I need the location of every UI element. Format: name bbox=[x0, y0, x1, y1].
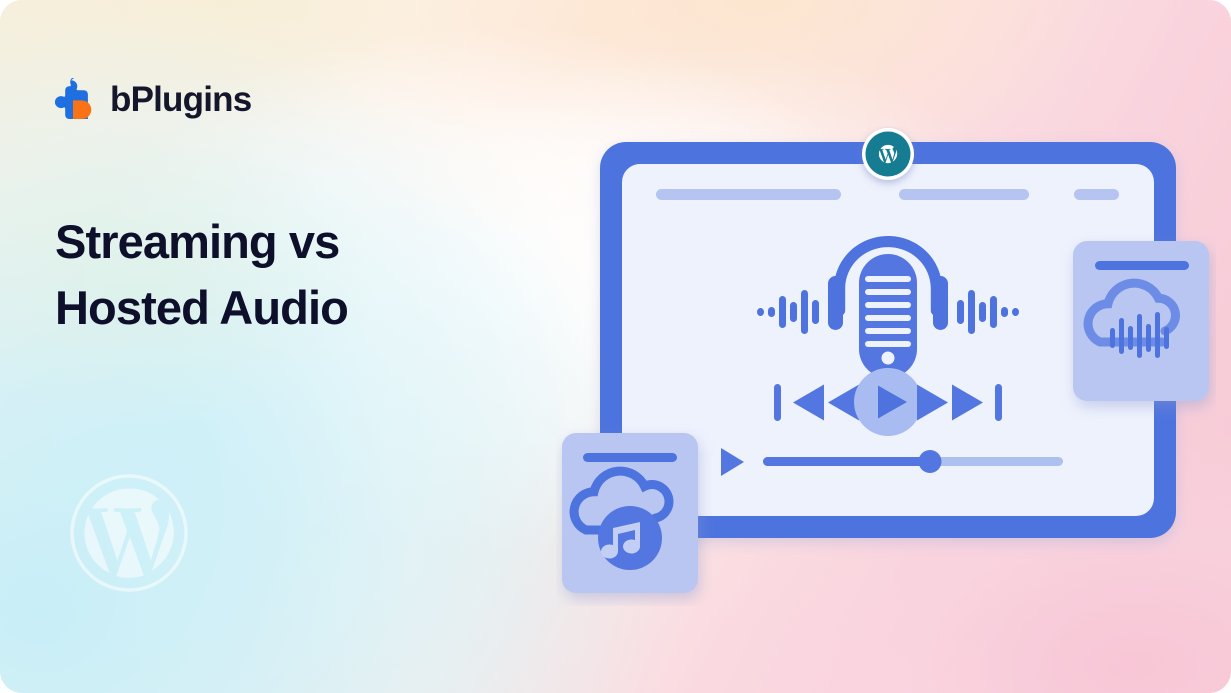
brand-logo[interactable]: bPlugins bbox=[55, 78, 251, 121]
audio-player-illustration bbox=[556, 126, 1216, 606]
wordpress-badge-icon bbox=[862, 128, 914, 180]
page-title-line-1: Streaming vs bbox=[55, 209, 525, 275]
cloud-music-card bbox=[562, 433, 698, 593]
page-title-line-2: Hosted Audio bbox=[55, 275, 525, 341]
content-bar-short bbox=[1074, 189, 1119, 200]
play-button bbox=[854, 368, 922, 436]
skip-next-icon bbox=[995, 384, 1002, 421]
progress-fill bbox=[763, 457, 930, 466]
brand-name: bPlugins bbox=[110, 80, 251, 120]
poster-canvas: bPlugins Streaming vs Hosted Audio bbox=[0, 0, 1231, 693]
content-bar-long bbox=[656, 189, 841, 200]
page-title: Streaming vs Hosted Audio bbox=[55, 209, 525, 341]
content-bar-medium bbox=[899, 189, 1029, 200]
cloud-stream-card bbox=[1073, 241, 1209, 401]
bplugins-puzzle-logo-icon bbox=[55, 78, 97, 121]
skip-previous-icon bbox=[774, 384, 781, 421]
progress-thumb bbox=[919, 450, 942, 473]
wordpress-logo-watermark-icon bbox=[68, 472, 190, 594]
